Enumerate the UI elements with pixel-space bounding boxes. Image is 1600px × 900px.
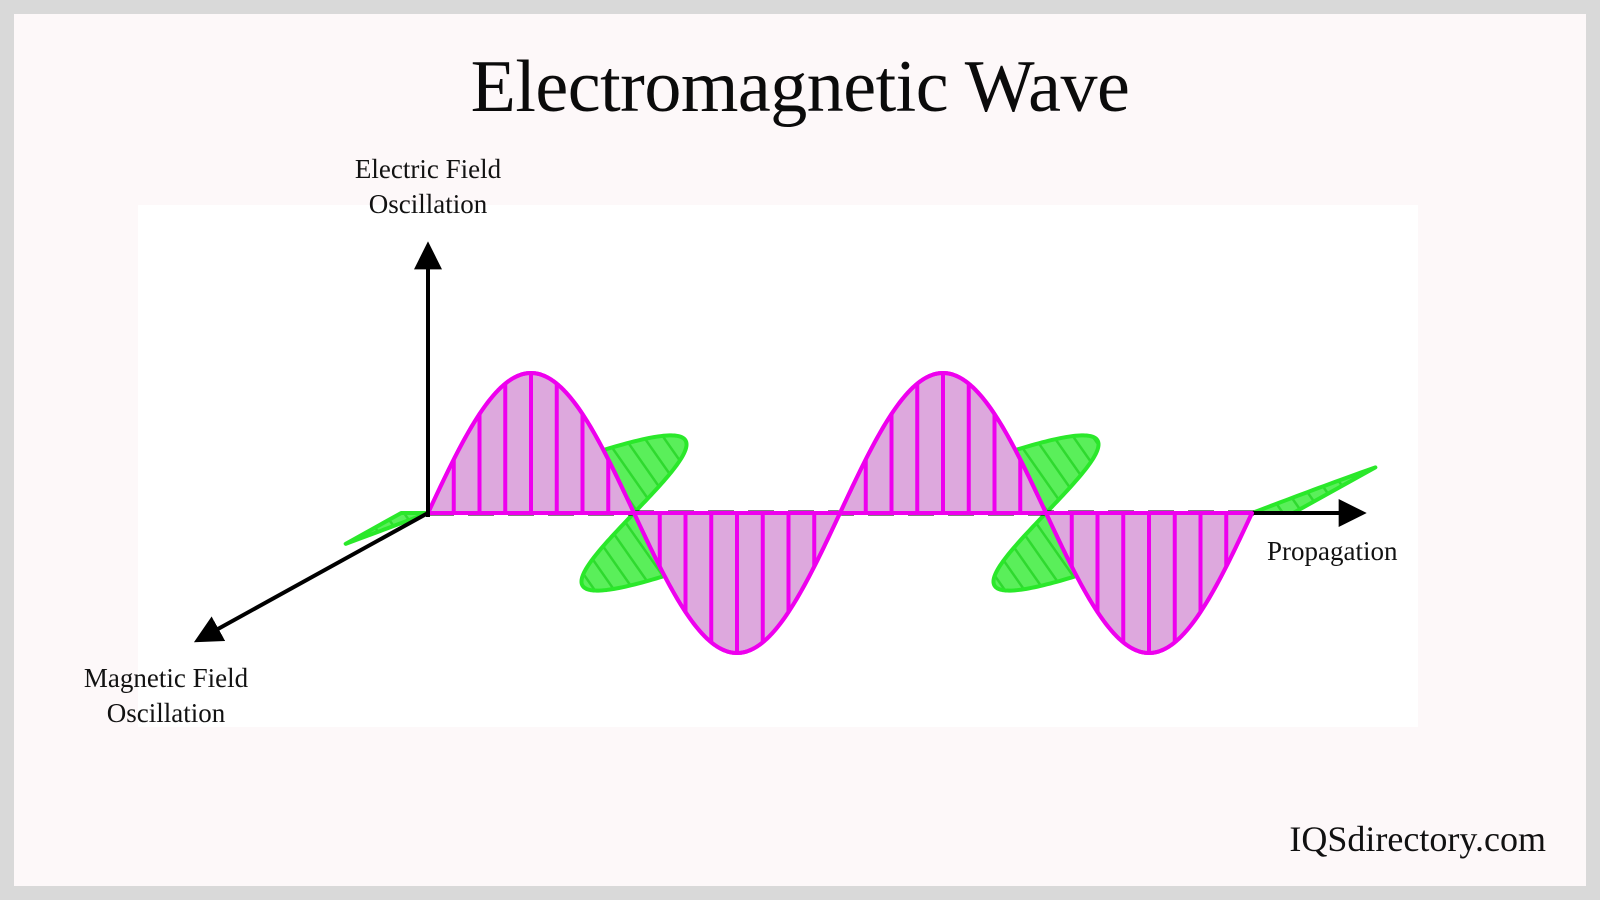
electric-field-wave [428, 373, 1252, 653]
magnetic-field-label-line2: Oscillation [107, 698, 226, 728]
electromagnetic-wave-diagram: Electric Field Oscillation Magnetic Fiel… [14, 14, 1586, 886]
electric-field-label-line2: Oscillation [369, 189, 488, 219]
figure-card: Electromagnetic Wave [14, 14, 1586, 886]
propagation-label: Propagation [1267, 536, 1398, 566]
watermark: IQSdirectory.com [1289, 818, 1546, 860]
electric-field-label-line1: Electric Field [355, 154, 502, 184]
magnetic-field-axis [198, 513, 428, 640]
magnetic-field-label-line1: Magnetic Field [84, 663, 249, 693]
magnetic-axis-line [198, 513, 428, 640]
